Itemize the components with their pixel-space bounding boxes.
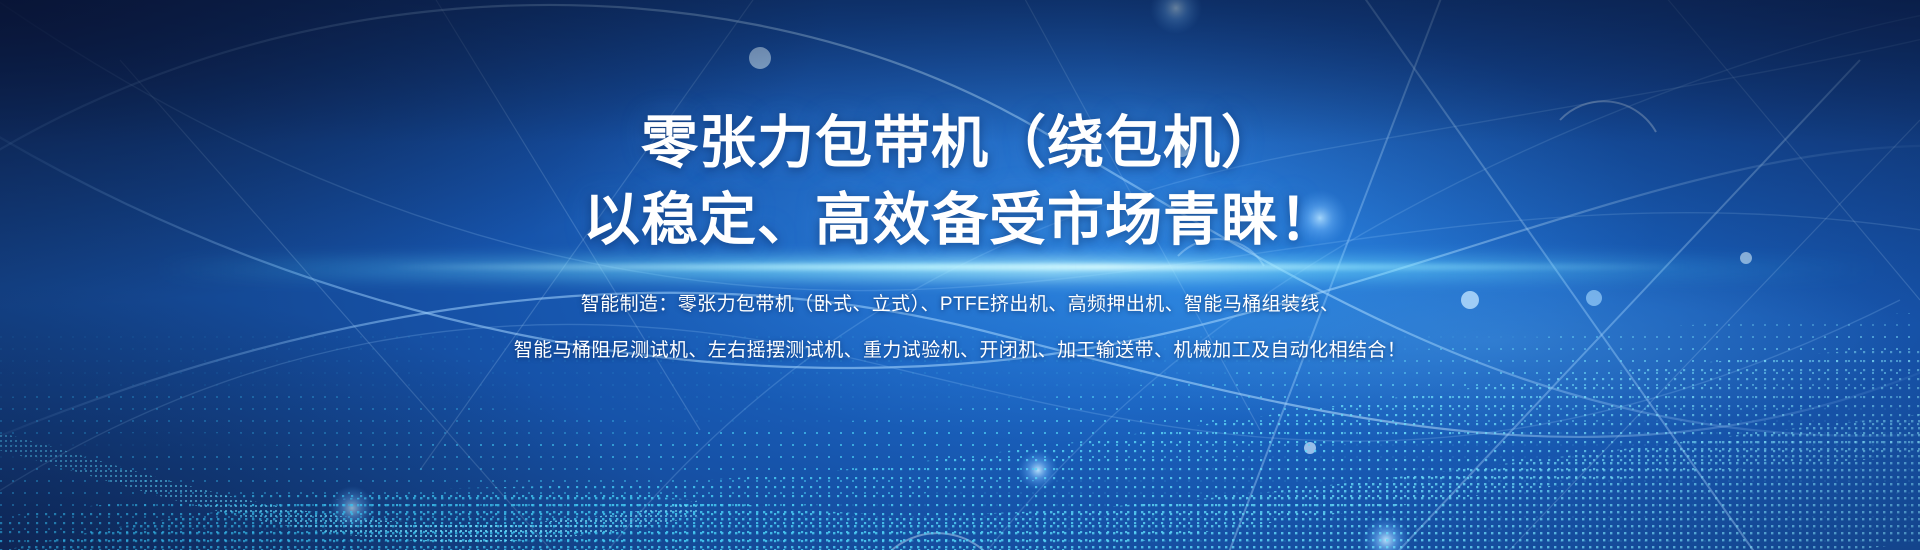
subtitle-block: 智能制造：零张力包带机（卧式、立式）、PTFE挤出机、高频押出机、智能马桶组装线… [514,291,1406,365]
headline-line-2: 以稳定、高效备受市场青睐！ [583,185,1337,256]
banner-content: 零张力包带机（绕包机） 以稳定、高效备受市场青睐！ 智能制造：零张力包带机（卧式… [0,0,1920,550]
subtitle-line-2: 智能马桶阻尼测试机、左右摇摆测试机、重力试验机、开闭机、加工输送带、机械加工及自… [514,337,1406,365]
headline-line-1: 零张力包带机（绕包机） [641,108,1279,179]
hero-banner: 零张力包带机（绕包机） 以稳定、高效备受市场青睐！ 智能制造：零张力包带机（卧式… [0,0,1920,550]
subtitle-line-1: 智能制造：零张力包带机（卧式、立式）、PTFE挤出机、高频押出机、智能马桶组装线… [514,291,1406,319]
